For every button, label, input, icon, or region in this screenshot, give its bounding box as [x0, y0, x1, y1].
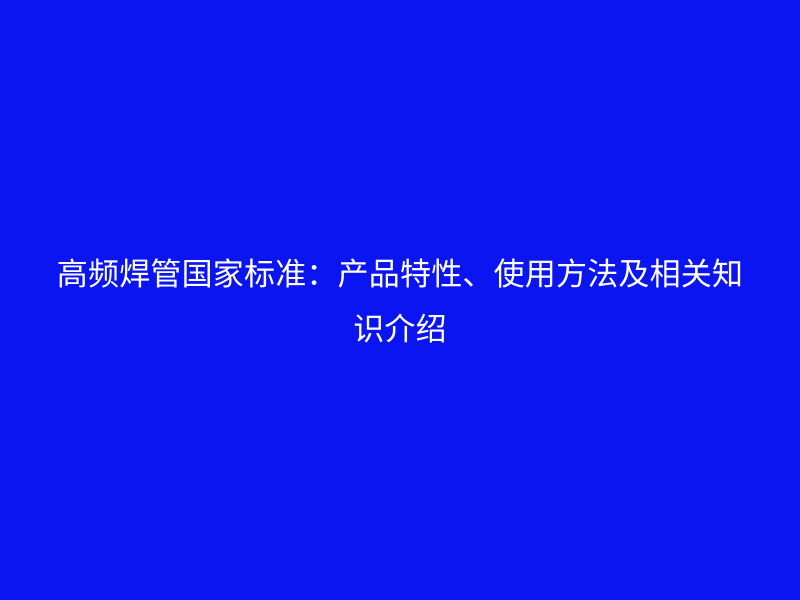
- slide-canvas: 高频焊管国家标准：产品特性、使用方法及相关知识介绍: [0, 0, 800, 600]
- title-block: 高频焊管国家标准：产品特性、使用方法及相关知识介绍: [54, 247, 746, 357]
- page-title: 高频焊管国家标准：产品特性、使用方法及相关知识介绍: [54, 247, 746, 357]
